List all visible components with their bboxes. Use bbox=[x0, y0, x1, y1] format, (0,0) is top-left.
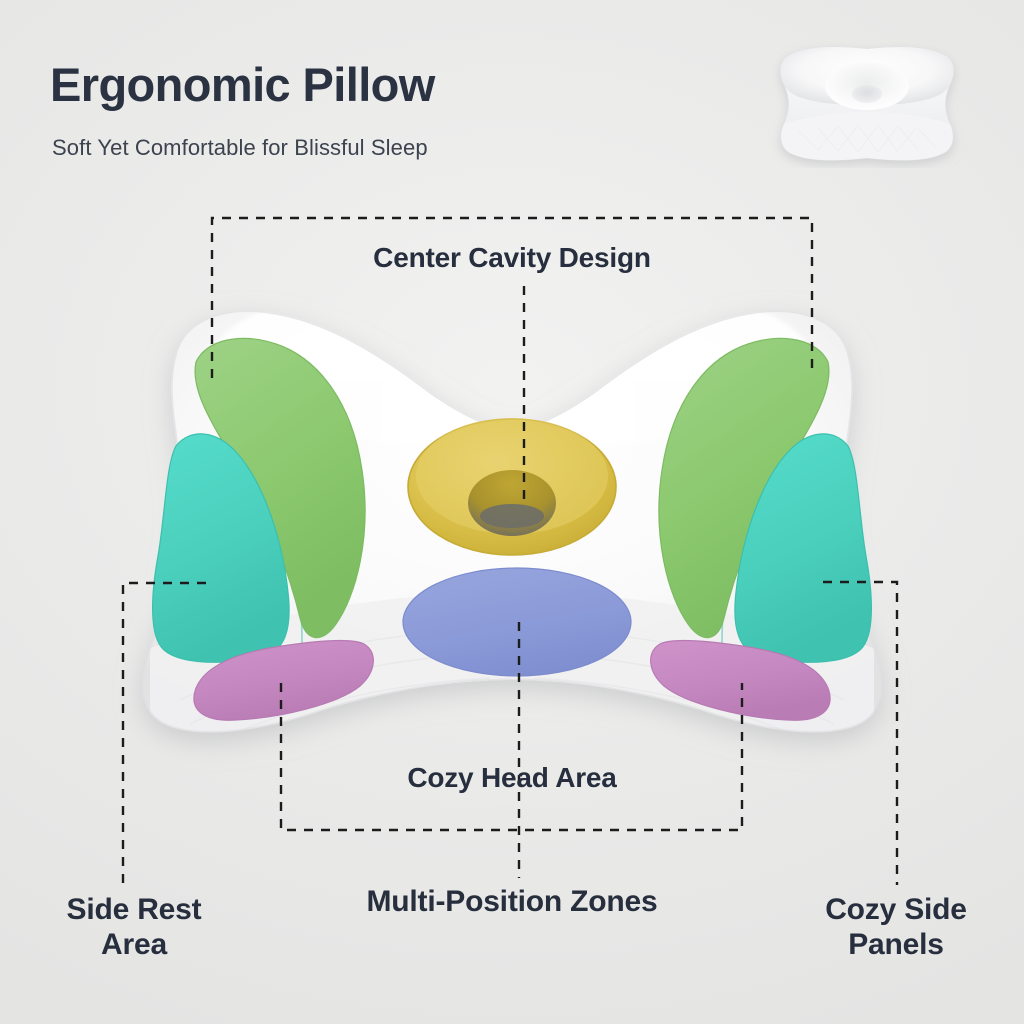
callout-label-cozy-side: Cozy Side Panels bbox=[772, 893, 1020, 963]
zone-center-cavity-ring[interactable] bbox=[408, 418, 616, 555]
callout-label-cozy-head: Cozy Head Area bbox=[312, 762, 712, 794]
infographic-page: Ergonomic Pillow Soft Yet Comfortable fo… bbox=[0, 0, 1024, 1024]
zone-cozy-head-oval[interactable] bbox=[403, 568, 631, 676]
cavity-hole-bottom bbox=[480, 504, 544, 528]
callout-label-side-rest: Side Rest Area bbox=[10, 893, 258, 963]
pillow-diagram bbox=[0, 0, 1024, 1024]
callout-label-center-cavity: Center Cavity Design bbox=[312, 242, 712, 274]
leader-multi-position-bracket bbox=[281, 683, 742, 830]
callout-label-multi-position: Multi-Position Zones bbox=[312, 885, 712, 920]
